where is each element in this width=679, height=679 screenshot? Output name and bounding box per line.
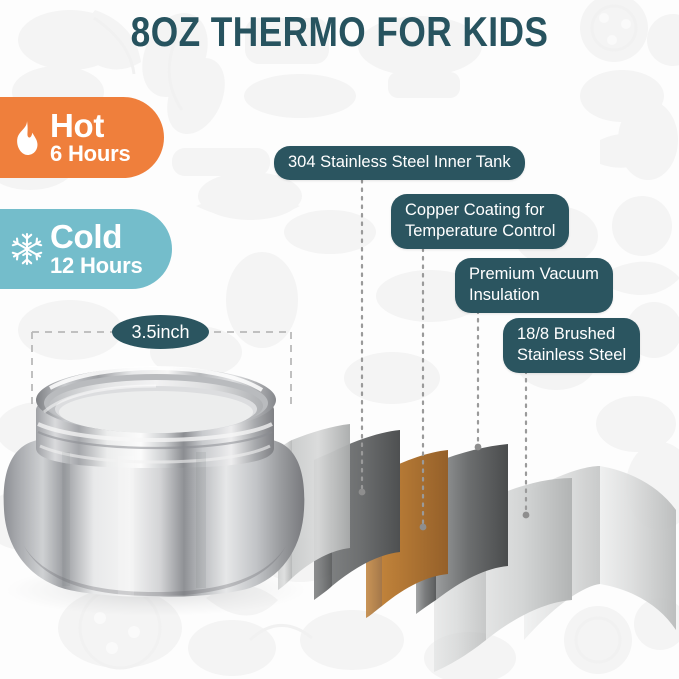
dimension-label: 3.5inch <box>112 315 209 349</box>
callout-copper-coating: Copper Coating for Temperature Control <box>391 194 569 249</box>
infographic-canvas: 8OZ THERMO FOR KIDS Hot 6 Hours <box>0 0 679 679</box>
callout-brushed-steel: 18/8 Brushed Stainless Steel <box>503 318 640 373</box>
callout-vacuum-insulation: Premium Vacuum Insulation <box>455 258 613 313</box>
callout-inner-tank: 304 Stainless Steel Inner Tank <box>274 146 525 180</box>
